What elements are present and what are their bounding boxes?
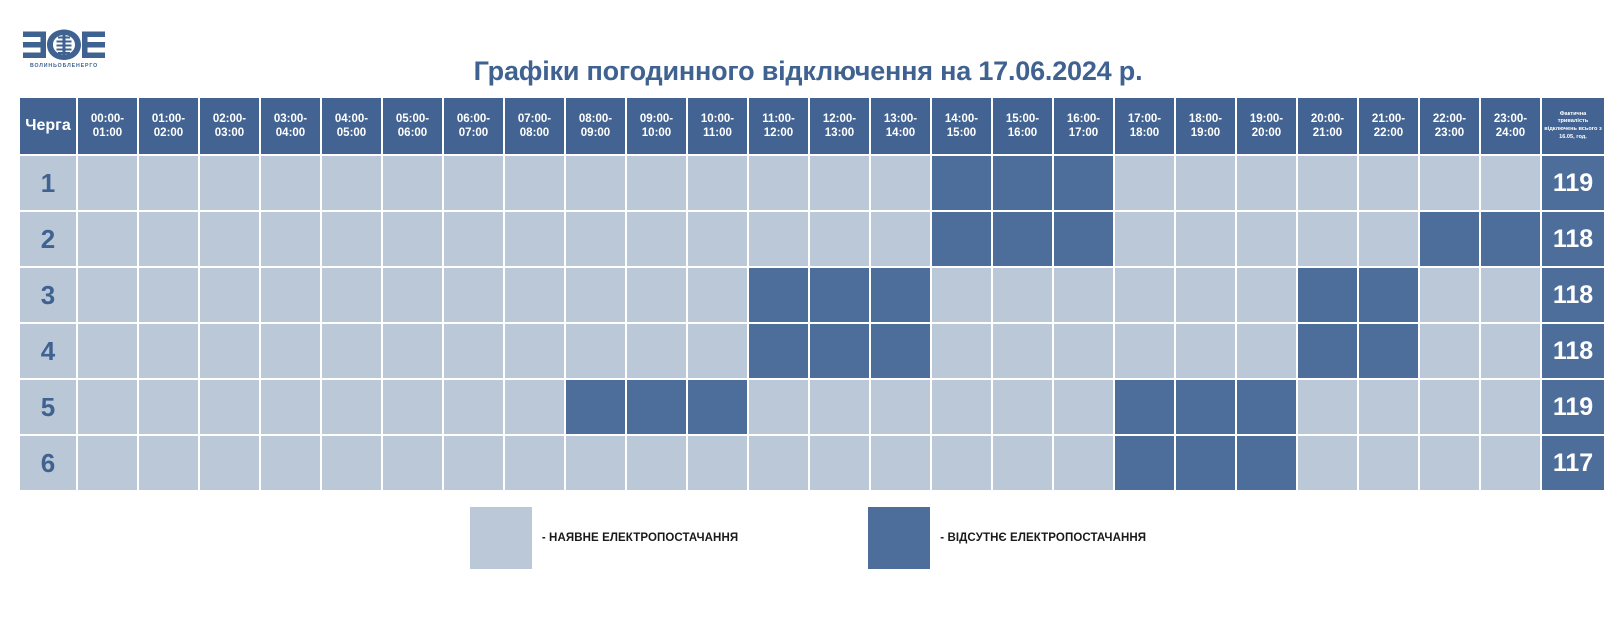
slot-cell-q2-h8[interactable]: [566, 212, 625, 266]
legend-label-power-on: - НАЯВНЕ ЕЛЕКТРОПОСТАЧАННЯ: [542, 532, 738, 544]
slot-cell-q2-h15[interactable]: [993, 212, 1052, 266]
slot-cell-q4-h21[interactable]: [1359, 324, 1418, 378]
table-row: 5119: [20, 380, 1604, 434]
slot-cell-q2-h10[interactable]: [688, 212, 747, 266]
slot-cell-q4-h8[interactable]: [566, 324, 625, 378]
slot-cell-q5-h14[interactable]: [932, 380, 991, 434]
slot-cell-q4-h14[interactable]: [932, 324, 991, 378]
total-hours-q2: 118: [1542, 212, 1604, 266]
slot-cell-q1-h4[interactable]: [322, 156, 381, 210]
slot-cell-q6-h5[interactable]: [383, 436, 442, 490]
slot-cell-q5-h9[interactable]: [627, 380, 686, 434]
slot-cell-q5-h4[interactable]: [322, 380, 381, 434]
slot-cell-q3-h18[interactable]: [1176, 268, 1235, 322]
slot-cell-q6-h20[interactable]: [1298, 436, 1357, 490]
slot-cell-q3-h1[interactable]: [139, 268, 198, 322]
column-header-hour-21: 21:00-22:00: [1359, 98, 1418, 154]
slot-cell-q6-h22[interactable]: [1420, 436, 1479, 490]
slot-cell-q3-h15[interactable]: [993, 268, 1052, 322]
slot-cell-q3-h12[interactable]: [810, 268, 869, 322]
slot-cell-q4-h18[interactable]: [1176, 324, 1235, 378]
slot-cell-q5-h23[interactable]: [1481, 380, 1540, 434]
slot-cell-q1-h16[interactable]: [1054, 156, 1113, 210]
slot-cell-q4-h23[interactable]: [1481, 324, 1540, 378]
slot-cell-q6-h1[interactable]: [139, 436, 198, 490]
slot-cell-q5-h8[interactable]: [566, 380, 625, 434]
queue-number-4: 4: [20, 324, 76, 378]
slot-cell-q5-h5[interactable]: [383, 380, 442, 434]
column-header-hour-6: 06:00-07:00: [444, 98, 503, 154]
slot-cell-q2-h14[interactable]: [932, 212, 991, 266]
slot-cell-q1-h10[interactable]: [688, 156, 747, 210]
slot-cell-q3-h2[interactable]: [200, 268, 259, 322]
slot-cell-q2-h6[interactable]: [444, 212, 503, 266]
slot-cell-q1-h0[interactable]: [78, 156, 137, 210]
queue-number-6: 6: [20, 436, 76, 490]
legend: - НАЯВНЕ ЕЛЕКТРОПОСТАЧАННЯ - ВІДСУТНЄ ЕЛ…: [0, 507, 1616, 569]
slot-cell-q1-h22[interactable]: [1420, 156, 1479, 210]
slot-cell-q2-h11[interactable]: [749, 212, 808, 266]
slot-cell-q2-h17[interactable]: [1115, 212, 1174, 266]
slot-cell-q1-h11[interactable]: [749, 156, 808, 210]
column-header-hour-13: 13:00-14:00: [871, 98, 930, 154]
slot-cell-q6-h17[interactable]: [1115, 436, 1174, 490]
column-header-queue: Черга: [20, 98, 76, 154]
slot-cell-q4-h6[interactable]: [444, 324, 503, 378]
slot-cell-q2-h13[interactable]: [871, 212, 930, 266]
legend-item-power-on: - НАЯВНЕ ЕЛЕКТРОПОСТАЧАННЯ: [470, 507, 738, 569]
slot-cell-q4-h5[interactable]: [383, 324, 442, 378]
column-header-hour-9: 09:00-10:00: [627, 98, 686, 154]
schedule-table-wrapper: Черга 00:00-01:0001:00-02:0002:00-03:000…: [18, 96, 1581, 492]
legend-swatch-power-off-icon: [868, 507, 930, 569]
slot-cell-q6-h23[interactable]: [1481, 436, 1540, 490]
slot-cell-q4-h16[interactable]: [1054, 324, 1113, 378]
column-header-hour-16: 16:00-17:00: [1054, 98, 1113, 154]
slot-cell-q5-h21[interactable]: [1359, 380, 1418, 434]
slot-cell-q4-h7[interactable]: [505, 324, 564, 378]
table-row: 2118: [20, 212, 1604, 266]
slot-cell-q1-h23[interactable]: [1481, 156, 1540, 210]
slot-cell-q4-h13[interactable]: [871, 324, 930, 378]
slot-cell-q3-h19[interactable]: [1237, 268, 1296, 322]
slot-cell-q4-h0[interactable]: [78, 324, 137, 378]
column-header-total-hours: Фактична тривалість відключень всього з …: [1542, 98, 1604, 154]
slot-cell-q5-h22[interactable]: [1420, 380, 1479, 434]
outage-schedule-table: Черга 00:00-01:0001:00-02:0002:00-03:000…: [18, 96, 1606, 492]
queue-number-5: 5: [20, 380, 76, 434]
slot-cell-q3-h16[interactable]: [1054, 268, 1113, 322]
column-header-hour-23: 23:00-24:00: [1481, 98, 1540, 154]
table-body: 111921183118411851196117: [20, 156, 1604, 490]
slot-cell-q2-h21[interactable]: [1359, 212, 1418, 266]
column-header-hour-2: 02:00-03:00: [200, 98, 259, 154]
slot-cell-q3-h23[interactable]: [1481, 268, 1540, 322]
column-header-hour-4: 04:00-05:00: [322, 98, 381, 154]
slot-cell-q1-h15[interactable]: [993, 156, 1052, 210]
slot-cell-q6-h9[interactable]: [627, 436, 686, 490]
slot-cell-q1-h6[interactable]: [444, 156, 503, 210]
slot-cell-q1-h5[interactable]: [383, 156, 442, 210]
column-header-hour-15: 15:00-16:00: [993, 98, 1052, 154]
slot-cell-q6-h13[interactable]: [871, 436, 930, 490]
slot-cell-q1-h8[interactable]: [566, 156, 625, 210]
slot-cell-q3-h11[interactable]: [749, 268, 808, 322]
queue-number-1: 1: [20, 156, 76, 210]
slot-cell-q2-h20[interactable]: [1298, 212, 1357, 266]
slot-cell-q6-h8[interactable]: [566, 436, 625, 490]
slot-cell-q5-h6[interactable]: [444, 380, 503, 434]
slot-cell-q5-h20[interactable]: [1298, 380, 1357, 434]
slot-cell-q2-h22[interactable]: [1420, 212, 1479, 266]
slot-cell-q2-h16[interactable]: [1054, 212, 1113, 266]
slot-cell-q3-h22[interactable]: [1420, 268, 1479, 322]
slot-cell-q5-h10[interactable]: [688, 380, 747, 434]
column-header-hour-1: 01:00-02:00: [139, 98, 198, 154]
slot-cell-q3-h17[interactable]: [1115, 268, 1174, 322]
slot-cell-q3-h21[interactable]: [1359, 268, 1418, 322]
header-row: Черга 00:00-01:0001:00-02:0002:00-03:000…: [20, 98, 1604, 154]
slot-cell-q3-h10[interactable]: [688, 268, 747, 322]
slot-cell-q5-h19[interactable]: [1237, 380, 1296, 434]
column-header-hour-0: 00:00-01:00: [78, 98, 137, 154]
table-row: 1119: [20, 156, 1604, 210]
slot-cell-q5-h7[interactable]: [505, 380, 564, 434]
slot-cell-q4-h10[interactable]: [688, 324, 747, 378]
slot-cell-q1-h2[interactable]: [200, 156, 259, 210]
slot-cell-q6-h6[interactable]: [444, 436, 503, 490]
slot-cell-q1-h20[interactable]: [1298, 156, 1357, 210]
slot-cell-q6-h12[interactable]: [810, 436, 869, 490]
slot-cell-q3-h4[interactable]: [322, 268, 381, 322]
legend-label-power-off: - ВІДСУТНЄ ЕЛЕКТРОПОСТАЧАННЯ: [940, 532, 1146, 544]
queue-number-2: 2: [20, 212, 76, 266]
slot-cell-q3-h6[interactable]: [444, 268, 503, 322]
column-header-hour-5: 05:00-06:00: [383, 98, 442, 154]
slot-cell-q6-h2[interactable]: [200, 436, 259, 490]
total-hours-q3: 118: [1542, 268, 1604, 322]
slot-cell-q3-h7[interactable]: [505, 268, 564, 322]
slot-cell-q4-h22[interactable]: [1420, 324, 1479, 378]
slot-cell-q6-h0[interactable]: [78, 436, 137, 490]
slot-cell-q4-h12[interactable]: [810, 324, 869, 378]
page-title: Графіки погодинного відключення на 17.06…: [0, 56, 1616, 87]
column-header-hour-10: 10:00-11:00: [688, 98, 747, 154]
slot-cell-q1-h14[interactable]: [932, 156, 991, 210]
total-hours-q5: 119: [1542, 380, 1604, 434]
legend-swatch-power-on-icon: [470, 507, 532, 569]
slot-cell-q6-h7[interactable]: [505, 436, 564, 490]
slot-cell-q2-h0[interactable]: [78, 212, 137, 266]
slot-cell-q6-h16[interactable]: [1054, 436, 1113, 490]
slot-cell-q2-h18[interactable]: [1176, 212, 1235, 266]
slot-cell-q2-h3[interactable]: [261, 212, 320, 266]
slot-cell-q5-h12[interactable]: [810, 380, 869, 434]
slot-cell-q5-h1[interactable]: [139, 380, 198, 434]
slot-cell-q3-h13[interactable]: [871, 268, 930, 322]
column-header-hour-22: 22:00-23:00: [1420, 98, 1479, 154]
slot-cell-q2-h12[interactable]: [810, 212, 869, 266]
slot-cell-q5-h17[interactable]: [1115, 380, 1174, 434]
slot-cell-q1-h9[interactable]: [627, 156, 686, 210]
column-header-hour-18: 18:00-19:00: [1176, 98, 1235, 154]
slot-cell-q2-h7[interactable]: [505, 212, 564, 266]
slot-cell-q4-h2[interactable]: [200, 324, 259, 378]
slot-cell-q1-h1[interactable]: [139, 156, 198, 210]
slot-cell-q6-h14[interactable]: [932, 436, 991, 490]
slot-cell-q1-h18[interactable]: [1176, 156, 1235, 210]
column-header-hour-19: 19:00-20:00: [1237, 98, 1296, 154]
total-hours-q4: 118: [1542, 324, 1604, 378]
slot-cell-q6-h4[interactable]: [322, 436, 381, 490]
legend-item-power-off: - ВІДСУТНЄ ЕЛЕКТРОПОСТАЧАННЯ: [868, 507, 1146, 569]
slot-cell-q4-h1[interactable]: [139, 324, 198, 378]
column-header-hour-12: 12:00-13:00: [810, 98, 869, 154]
slot-cell-q2-h5[interactable]: [383, 212, 442, 266]
slot-cell-q4-h4[interactable]: [322, 324, 381, 378]
slot-cell-q3-h3[interactable]: [261, 268, 320, 322]
column-header-hour-7: 07:00-08:00: [505, 98, 564, 154]
slot-cell-q3-h5[interactable]: [383, 268, 442, 322]
slot-cell-q5-h0[interactable]: [78, 380, 137, 434]
slot-cell-q4-h3[interactable]: [261, 324, 320, 378]
slot-cell-q2-h19[interactable]: [1237, 212, 1296, 266]
slot-cell-q5-h15[interactable]: [993, 380, 1052, 434]
slot-cell-q3-h14[interactable]: [932, 268, 991, 322]
slot-cell-q6-h21[interactable]: [1359, 436, 1418, 490]
slot-cell-q1-h7[interactable]: [505, 156, 564, 210]
slot-cell-q1-h12[interactable]: [810, 156, 869, 210]
total-hours-q1: 119: [1542, 156, 1604, 210]
slot-cell-q4-h20[interactable]: [1298, 324, 1357, 378]
column-header-hour-14: 14:00-15:00: [932, 98, 991, 154]
column-header-hour-11: 11:00-12:00: [749, 98, 808, 154]
queue-number-3: 3: [20, 268, 76, 322]
slot-cell-q6-h3[interactable]: [261, 436, 320, 490]
slot-cell-q5-h2[interactable]: [200, 380, 259, 434]
total-hours-q6: 117: [1542, 436, 1604, 490]
slot-cell-q1-h21[interactable]: [1359, 156, 1418, 210]
slot-cell-q6-h18[interactable]: [1176, 436, 1235, 490]
slot-cell-q1-h3[interactable]: [261, 156, 320, 210]
column-header-hour-3: 03:00-04:00: [261, 98, 320, 154]
slot-cell-q3-h9[interactable]: [627, 268, 686, 322]
slot-cell-q2-h23[interactable]: [1481, 212, 1540, 266]
slot-cell-q6-h19[interactable]: [1237, 436, 1296, 490]
table-row: 4118: [20, 324, 1604, 378]
slot-cell-q2-h4[interactable]: [322, 212, 381, 266]
slot-cell-q4-h17[interactable]: [1115, 324, 1174, 378]
slot-cell-q1-h19[interactable]: [1237, 156, 1296, 210]
slot-cell-q4-h9[interactable]: [627, 324, 686, 378]
slot-cell-q2-h2[interactable]: [200, 212, 259, 266]
column-header-hour-17: 17:00-18:00: [1115, 98, 1174, 154]
table-row: 3118: [20, 268, 1604, 322]
slot-cell-q1-h13[interactable]: [871, 156, 930, 210]
slot-cell-q6-h10[interactable]: [688, 436, 747, 490]
slot-cell-q5-h16[interactable]: [1054, 380, 1113, 434]
slot-cell-q2-h9[interactable]: [627, 212, 686, 266]
slot-cell-q6-h15[interactable]: [993, 436, 1052, 490]
slot-cell-q3-h20[interactable]: [1298, 268, 1357, 322]
slot-cell-q2-h1[interactable]: [139, 212, 198, 266]
slot-cell-q5-h3[interactable]: [261, 380, 320, 434]
slot-cell-q4-h19[interactable]: [1237, 324, 1296, 378]
slot-cell-q6-h11[interactable]: [749, 436, 808, 490]
slot-cell-q5-h13[interactable]: [871, 380, 930, 434]
column-header-hour-20: 20:00-21:00: [1298, 98, 1357, 154]
slot-cell-q4-h11[interactable]: [749, 324, 808, 378]
column-header-hour-8: 08:00-09:00: [566, 98, 625, 154]
slot-cell-q5-h11[interactable]: [749, 380, 808, 434]
slot-cell-q3-h0[interactable]: [78, 268, 137, 322]
slot-cell-q5-h18[interactable]: [1176, 380, 1235, 434]
slot-cell-q3-h8[interactable]: [566, 268, 625, 322]
table-head: Черга 00:00-01:0001:00-02:0002:00-03:000…: [20, 98, 1604, 154]
outage-schedule-page: ВОЛИНЬОБЛЕНЕРГО Графіки погодинного відк…: [0, 0, 1616, 640]
slot-cell-q1-h17[interactable]: [1115, 156, 1174, 210]
slot-cell-q4-h15[interactable]: [993, 324, 1052, 378]
table-row: 6117: [20, 436, 1604, 490]
